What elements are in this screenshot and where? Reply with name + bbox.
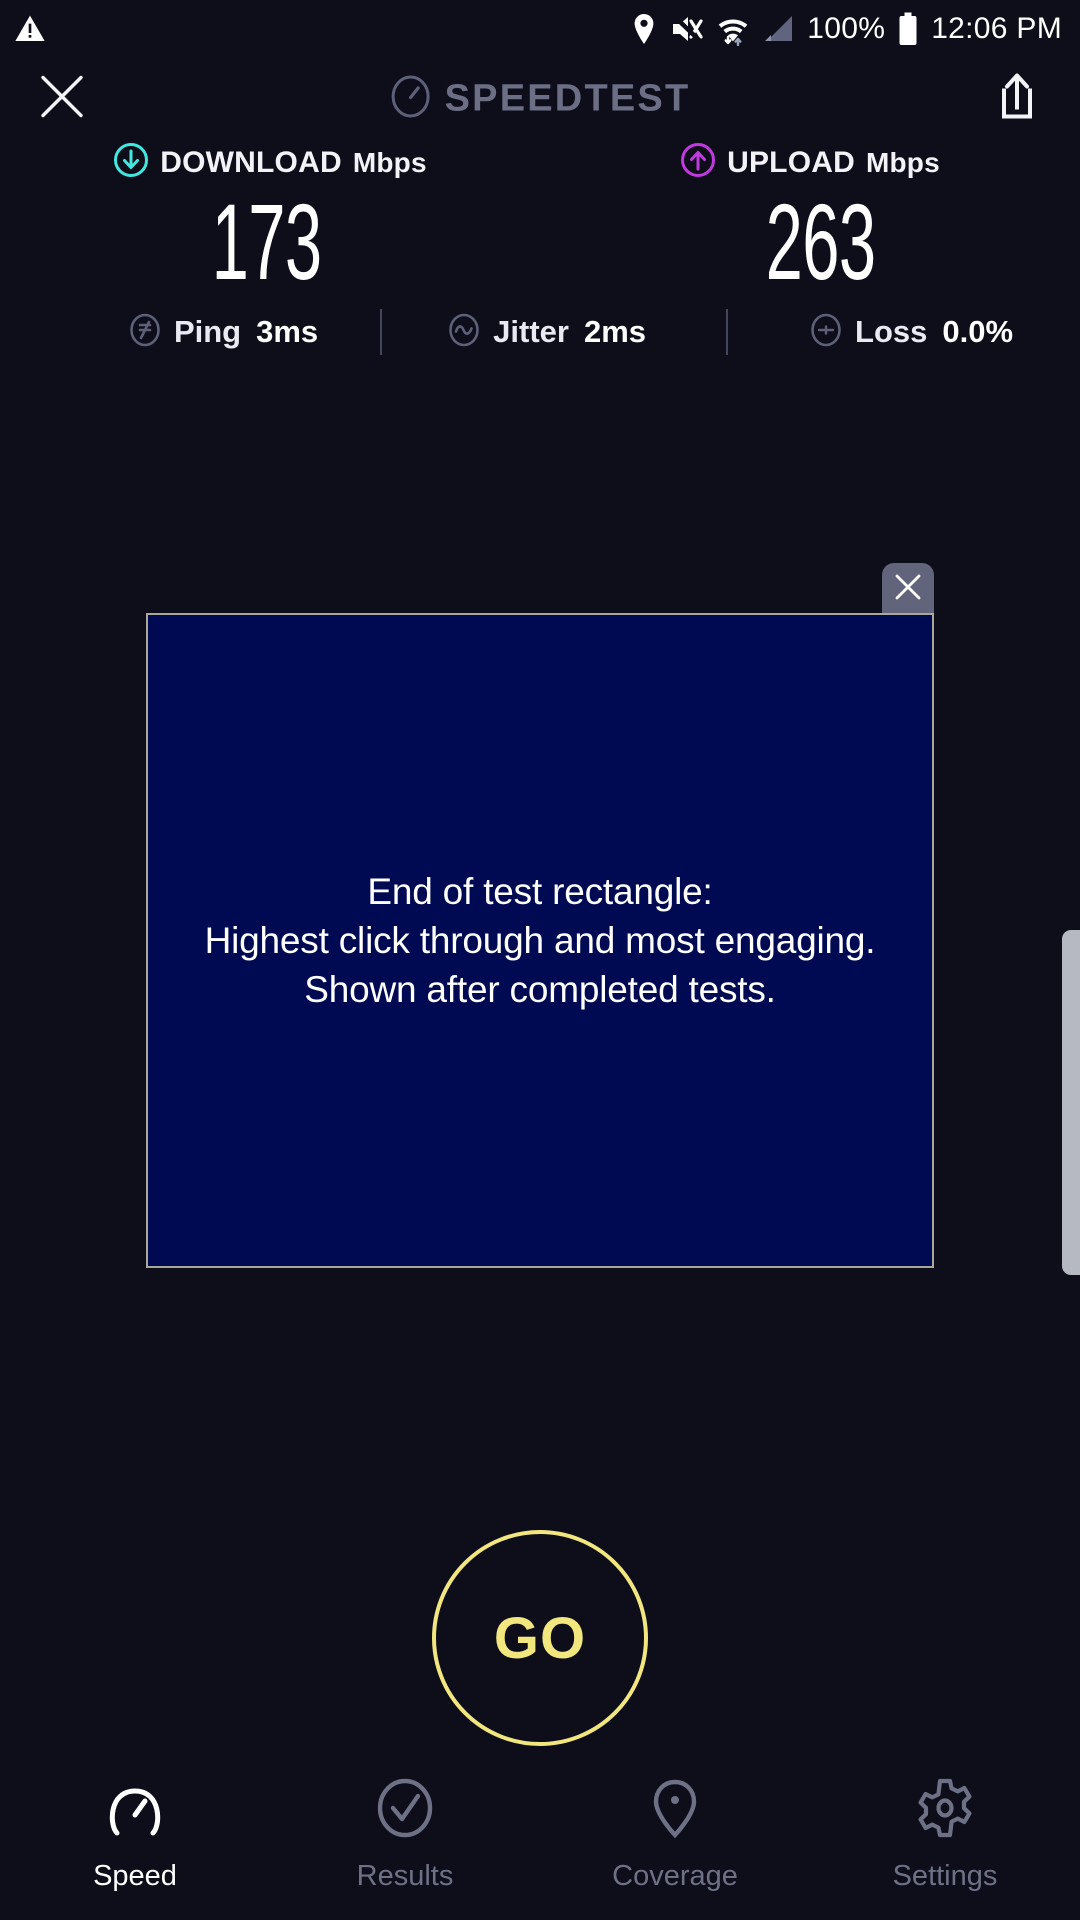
map-pin-icon: [646, 1777, 704, 1844]
gear-icon: [916, 1777, 974, 1844]
advertisement-banner[interactable]: End of test rectangle:Highest click thro…: [146, 613, 934, 1268]
advertisement-text: End of test rectangle:Highest click thro…: [205, 867, 876, 1015]
clock-label: 12:06 PM: [931, 12, 1062, 46]
status-bar: 100% 12:06 PM: [0, 0, 1080, 58]
metric-loss-label: Loss: [855, 314, 927, 350]
status-bar-left: [14, 13, 46, 45]
speedtest-app-screen: 100% 12:06 PM SPEEDTEST: [0, 0, 1080, 1920]
loss-icon: [808, 312, 844, 353]
metrics-row: Ping 3ms Jitter 2ms Loss 0.0%: [0, 305, 1080, 359]
brand-title: SPEEDTEST: [445, 78, 691, 121]
metric-loss: Loss 0.0%: [808, 312, 1013, 353]
jitter-icon: [446, 312, 482, 353]
metric-ping-label: Ping: [174, 314, 241, 350]
nav-item-speed-label: Speed: [93, 1860, 177, 1893]
metric-ping-value: 3ms: [256, 314, 318, 350]
download-unit: Mbps: [353, 147, 427, 179]
download-value: 173: [212, 187, 322, 297]
wifi-icon: [717, 12, 749, 46]
cellular-signal-icon: [762, 14, 794, 44]
location-pin-icon: [631, 13, 657, 45]
upload-unit: Mbps: [866, 147, 940, 179]
go-button[interactable]: GO: [432, 1530, 648, 1746]
close-icon: [893, 572, 923, 607]
nav-item-settings-label: Settings: [893, 1860, 998, 1893]
speedometer-icon: [106, 1777, 164, 1844]
upload-value: 263: [766, 187, 876, 297]
metric-divider: [726, 309, 728, 355]
bottom-navigation: Speed Results Coverage: [0, 1772, 1080, 1920]
nav-item-coverage-label: Coverage: [612, 1860, 738, 1893]
nav-item-results-label: Results: [357, 1860, 454, 1893]
download-result: DOWNLOAD Mbps 173: [0, 142, 540, 297]
results-summary: DOWNLOAD Mbps 173 UPLOAD Mbps 263: [0, 142, 1080, 297]
warning-triangle-icon: [14, 13, 46, 45]
download-arrow-icon: [113, 142, 149, 183]
metric-jitter-value: 2ms: [584, 314, 646, 350]
upload-arrow-icon: [680, 142, 716, 183]
speedometer-icon: [390, 75, 432, 124]
check-circle-icon: [376, 1777, 434, 1844]
volume-muted-icon: [670, 13, 704, 45]
upload-result: UPLOAD Mbps 263: [540, 142, 1080, 297]
nav-item-coverage[interactable]: Coverage: [540, 1772, 810, 1920]
go-button-label: GO: [494, 1605, 586, 1672]
battery-full-icon: [898, 12, 918, 46]
upload-label: UPLOAD: [727, 146, 855, 180]
metric-ping: Ping 3ms: [127, 312, 318, 353]
advertisement-container: End of test rectangle:Highest click thro…: [146, 613, 934, 1268]
metric-jitter: Jitter 2ms: [446, 312, 646, 353]
metric-jitter-label: Jitter: [493, 314, 569, 350]
metric-divider: [380, 309, 382, 355]
share-icon[interactable]: [996, 72, 1038, 127]
brand: SPEEDTEST: [390, 75, 691, 124]
nav-item-results[interactable]: Results: [270, 1772, 540, 1920]
download-label: DOWNLOAD: [160, 146, 342, 180]
ping-icon: [127, 312, 163, 353]
nav-item-speed[interactable]: Speed: [0, 1772, 270, 1920]
ad-close-button[interactable]: [882, 563, 934, 615]
metric-loss-value: 0.0%: [942, 314, 1013, 350]
status-bar-right: 100% 12:06 PM: [631, 12, 1062, 46]
vertical-scrollbar[interactable]: [1062, 930, 1080, 1275]
nav-item-settings[interactable]: Settings: [810, 1772, 1080, 1920]
battery-percent-label: 100%: [807, 12, 885, 46]
app-bar: SPEEDTEST: [0, 60, 1080, 138]
close-icon[interactable]: [38, 73, 86, 126]
